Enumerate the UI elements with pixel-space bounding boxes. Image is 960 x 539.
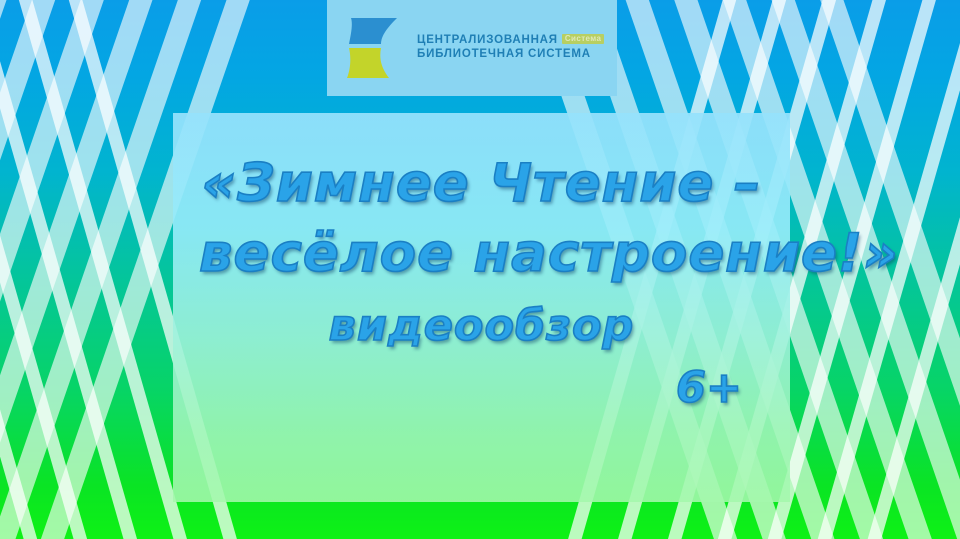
- title-line-1: «Зимнее Чтение –: [199, 157, 764, 211]
- title-panel: «Зимнее Чтение – весёлое настроение!» ви…: [173, 113, 790, 502]
- logo-line-1: ЦЕНТРАЛИЗОВАННАЯ Система: [417, 34, 604, 48]
- stripe: [0, 0, 55, 539]
- logo-line-1-text: ЦЕНТРАЛИЗОВАННАЯ: [417, 34, 558, 46]
- stripe: [0, 0, 26, 539]
- stripe: [0, 0, 118, 539]
- library-swoosh-logo-icon: [341, 12, 407, 84]
- title-line-2: весёлое настроение!»: [199, 227, 764, 281]
- stripe: [0, 0, 164, 539]
- stripe: [0, 0, 185, 539]
- subtitle: видеообзор: [199, 305, 764, 349]
- stripe: [0, 0, 72, 539]
- library-logo-plaque: ЦЕНТРАЛИЗОВАННАЯ Система БИБЛИОТЕЧНАЯ СИ…: [327, 0, 617, 96]
- poster-canvas: ЦЕНТРАЛИЗОВАННАЯ Система БИБЛИОТЕЧНАЯ СИ…: [0, 0, 960, 539]
- stripe: [0, 0, 55, 539]
- logo-line-2: БИБЛИОТЕЧНАЯ СИСТЕМА: [417, 48, 604, 62]
- stripe: [0, 0, 98, 539]
- library-logo-text: ЦЕНТРАЛИЗОВАННАЯ Система БИБЛИОТЕЧНАЯ СИ…: [417, 34, 604, 61]
- stripe: [0, 0, 142, 539]
- logo-badge: Система: [562, 34, 604, 43]
- age-rating-badge: 6+: [199, 367, 764, 411]
